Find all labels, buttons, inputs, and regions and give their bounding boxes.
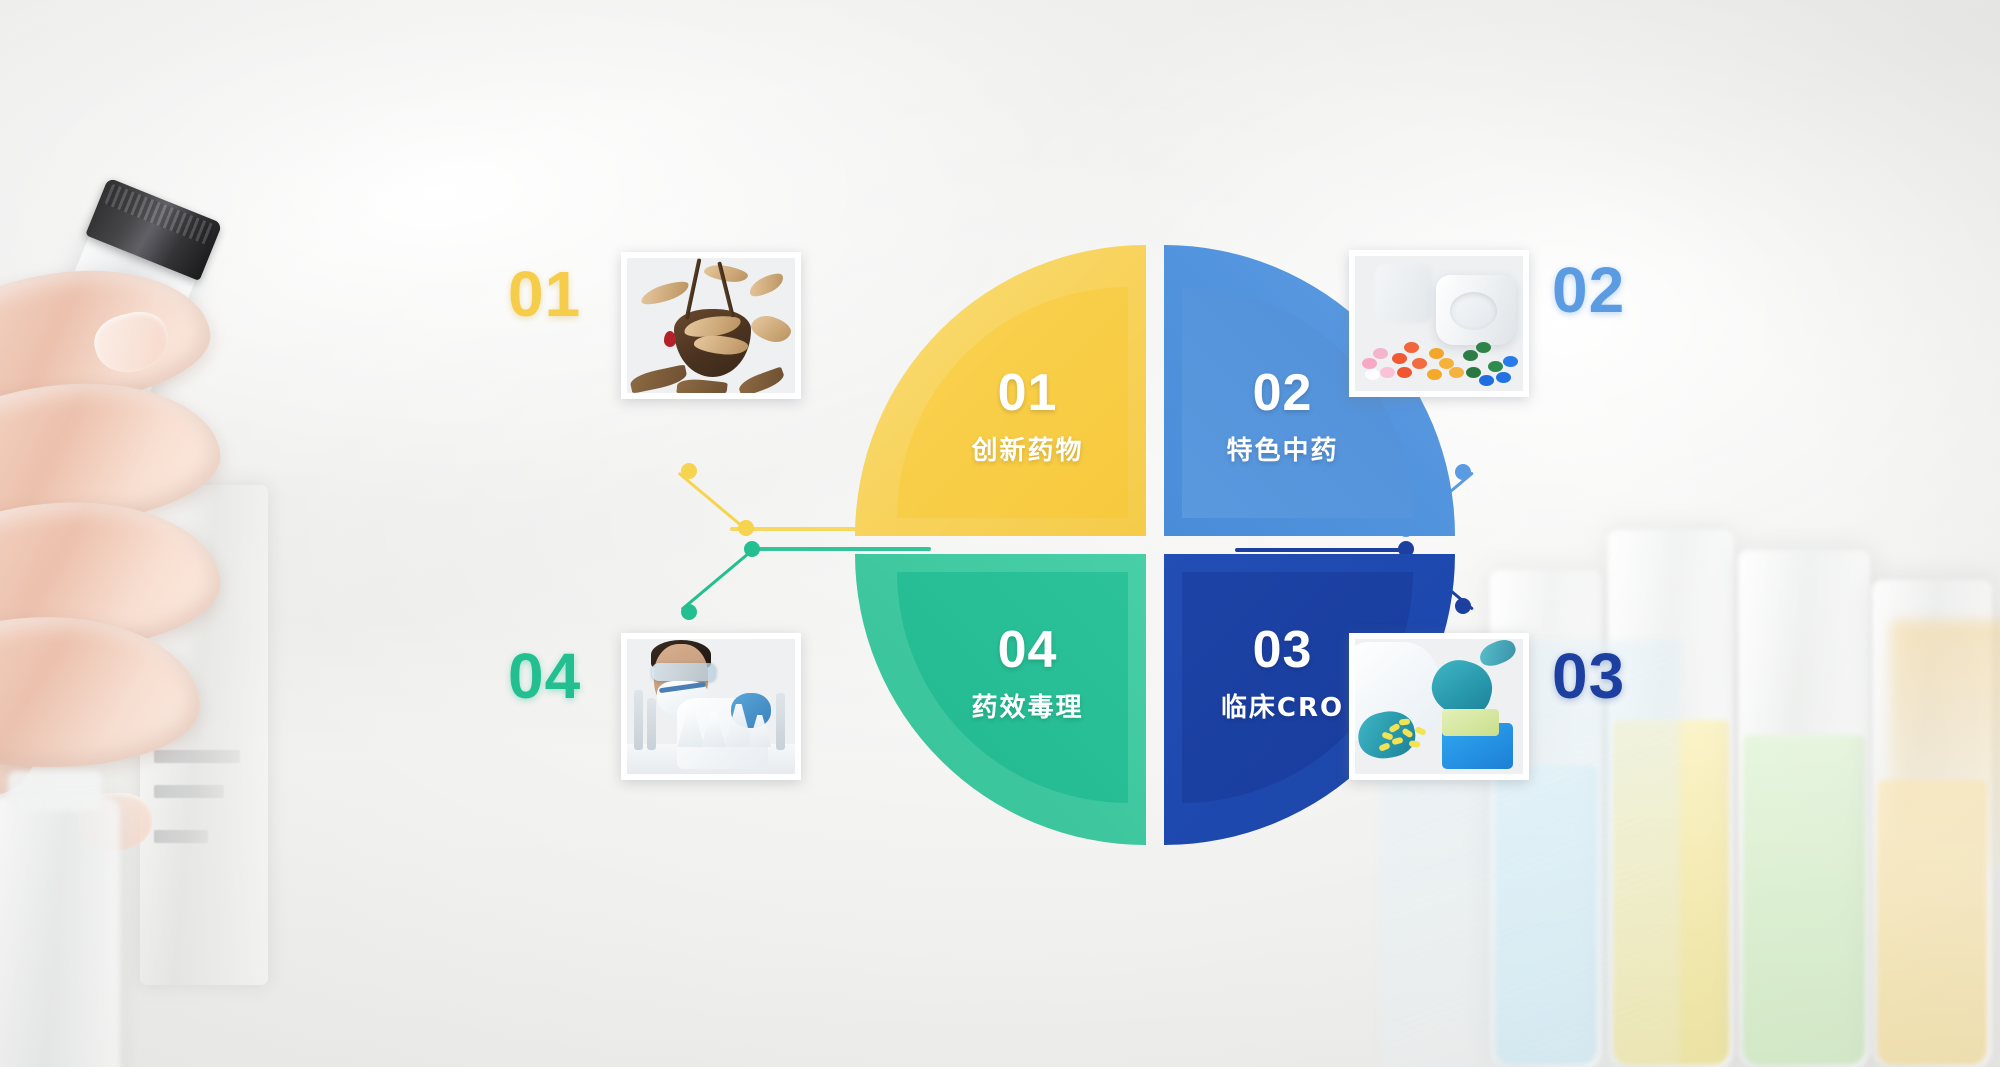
outer-number-02: 02 (1552, 258, 1625, 322)
connector-endpoint-dot (681, 604, 697, 620)
outer-number-01: 01 (508, 262, 581, 326)
connector-joint-dot (738, 520, 754, 536)
quadrant-segment-04[interactable]: 04 药效毒理 (855, 554, 1146, 845)
segment-label: 特色中药 (1226, 430, 1338, 467)
connector-endpoint-dot (1455, 598, 1471, 614)
herbal-medicine-photo (627, 258, 795, 393)
thumbnail-colorful-pills[interactable] (1349, 250, 1529, 397)
thumbnail-herbal-medicine[interactable] (621, 252, 801, 399)
segment-number: 01 (998, 367, 1058, 419)
segment-number: 02 (1253, 367, 1313, 419)
scientist-lab-photo (627, 639, 795, 774)
connector-joint-dot (744, 541, 760, 557)
infographic: 01 创新药物 02 特色中药 04 药效毒理 03 (0, 0, 2000, 1067)
connector-endpoint-dot (1455, 464, 1471, 480)
outer-number-04: 04 (508, 644, 581, 708)
lab-gloves-capsules-photo (1355, 639, 1523, 774)
quadrant-segment-01[interactable]: 01 创新药物 (855, 245, 1146, 536)
connector-endpoint-dot (681, 463, 697, 479)
segment-label: 创新药物 (971, 430, 1083, 467)
segment-label: 药效毒理 (971, 687, 1083, 724)
segment-number: 03 (1253, 624, 1313, 676)
thumbnail-scientist-lab[interactable] (621, 633, 801, 780)
segment-label: 临床CRO (1221, 687, 1344, 724)
thumbnail-lab-gloves-capsules[interactable] (1349, 633, 1529, 780)
colorful-pills-photo (1355, 256, 1523, 391)
outer-number-03: 03 (1552, 644, 1625, 708)
segment-number: 04 (998, 624, 1058, 676)
